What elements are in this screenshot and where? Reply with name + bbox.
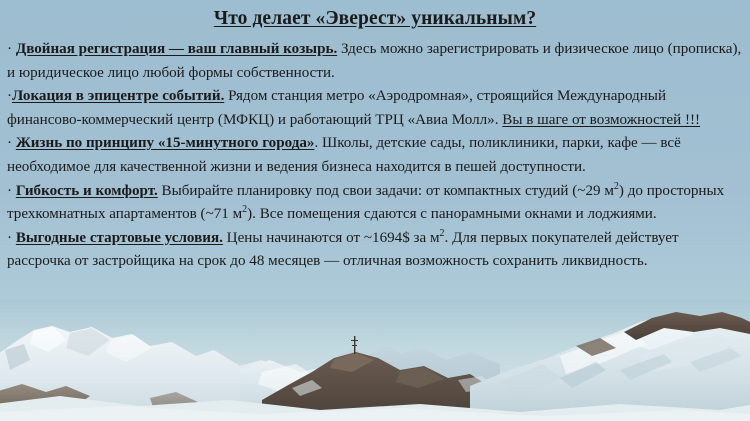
bullet-tagline-2: Вы в шаге от возможностей !!! xyxy=(502,112,700,128)
mountain-range-illustration xyxy=(0,300,750,421)
bullet-marker-1: · xyxy=(7,41,12,57)
bullet-lead-3: Жизнь по принципу «15-минутного города» xyxy=(16,135,315,151)
slide-body: · Двойная регистрация — ваш главный козы… xyxy=(7,38,744,274)
bullet-text-4c: ). Все помещения сдаются с панорамными о… xyxy=(247,206,657,222)
bullet-lead-5: Выгодные стартовые условия. xyxy=(16,230,223,246)
bullet-item-flexibility: · Гибкость и комфорт. Выбирайте планиров… xyxy=(7,180,744,227)
bullet-item-registration: · Двойная регистрация — ваш главный козы… xyxy=(7,38,744,85)
bullet-item-pricing: · Выгодные стартовые условия. Цены начин… xyxy=(7,227,744,274)
bullet-lead-1: Двойная регистрация — ваш главный козырь… xyxy=(16,41,337,57)
bullet-item-location: ·Локация в эпицентре событий. Рядом стан… xyxy=(7,85,744,132)
bullet-lead-2: Локация в эпицентре событий. xyxy=(12,88,224,104)
bullet-lead-4: Гибкость и комфорт. xyxy=(16,183,158,199)
bullet-text-4a: Выбирайте планировку под свои задачи: от… xyxy=(158,183,614,199)
bullet-item-15min-city: · Жизнь по принципу «15-минутного города… xyxy=(7,132,744,179)
mountain-photo xyxy=(0,300,750,421)
presentation-slide: Что делает «Эверест» уникальным? · Двойн… xyxy=(0,0,750,421)
bullet-marker-4: · xyxy=(7,183,12,199)
bullet-marker-5: · xyxy=(7,230,12,246)
bullet-text-5a: Цены начинаются от ~1694$ за м xyxy=(223,230,440,246)
bullet-marker-3: · xyxy=(7,135,12,151)
slide-title: Что делает «Эверест» уникальным? xyxy=(0,8,750,30)
